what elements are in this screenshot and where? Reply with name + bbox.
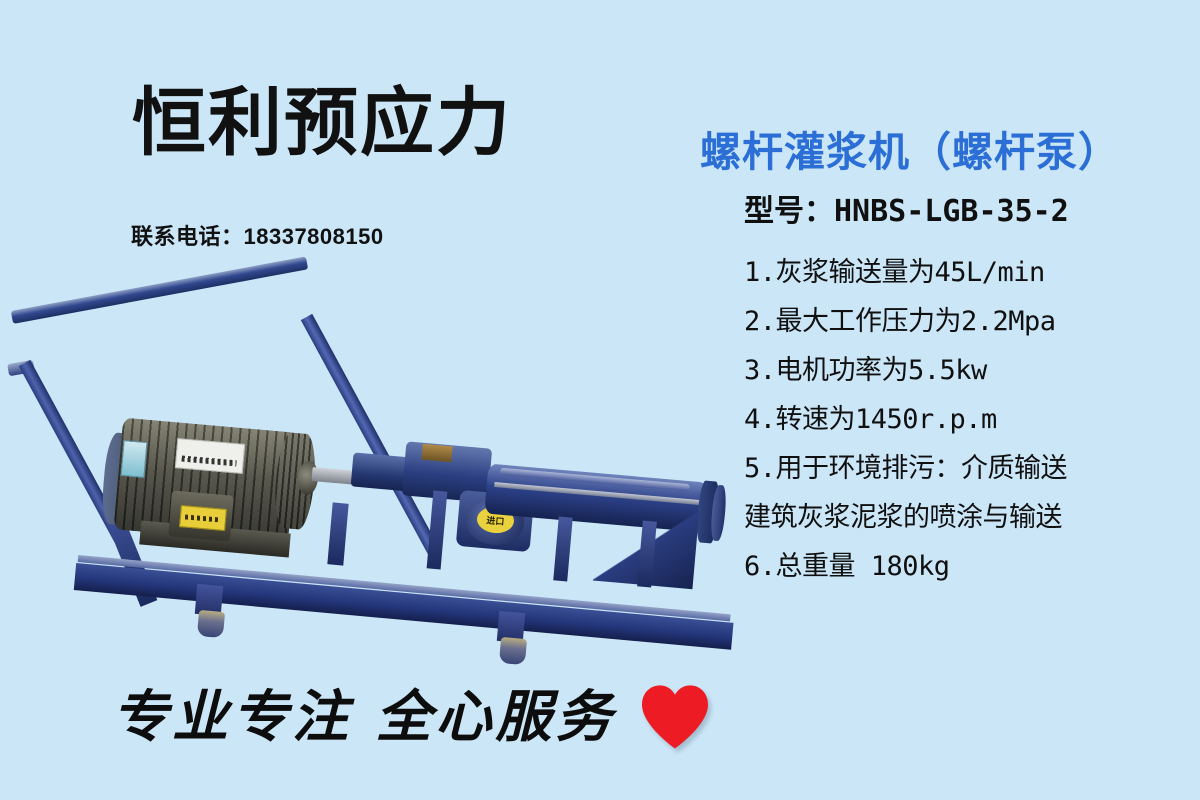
caster-wheel [499, 637, 527, 665]
spec-item: 1.灰浆输送量为45L/min [744, 248, 1194, 297]
brand-title: 恒利预应力 [132, 86, 512, 160]
specification-list: 1.灰浆输送量为45L/min 2.最大工作压力为2.2Mpa 3.电机功率为5… [744, 248, 1194, 591]
spec-item: 2.最大工作压力为2.2Mpa [744, 297, 1194, 346]
poster-canvas: 进口 恒利预应力 联系电话：18337808150 螺杆灌浆机（螺杆泵） 型号：… [0, 0, 1200, 800]
motor-nameplate [175, 438, 245, 474]
support-bracket [327, 502, 348, 565]
spec-item: 6.总重量 180kg [744, 542, 1194, 591]
support-bracket [427, 491, 448, 570]
handle-crossbar [11, 256, 308, 323]
spec-item: 4.转速为1450r.p.m [744, 395, 1194, 444]
bearing-housing-band [421, 444, 452, 463]
product-title: 螺杆灌浆机（螺杆泵） [700, 118, 1120, 178]
handle-right-post [301, 314, 440, 556]
spec-item: 5.用于环境排污：介质输送 [744, 444, 1194, 493]
spec-item: 3.电机功率为5.5kw [744, 346, 1194, 395]
motor-brand-sticker [120, 440, 147, 478]
support-bracket [553, 517, 573, 582]
screw-grouting-pump-photo: 进口 [0, 255, 760, 655]
contact-phone: 联系电话：18337808150 [131, 219, 384, 251]
product-model: 型号：HNBS-LGB-35-2 [744, 186, 1069, 230]
heart-icon [639, 684, 711, 750]
slogan-text: 专业专注 全心服务 [112, 672, 616, 753]
motor-warning-sticker [179, 505, 227, 531]
caster-wheel [197, 610, 225, 638]
spec-item-continuation: 建筑灰浆泥浆的喷涂与输送 [744, 493, 1194, 542]
